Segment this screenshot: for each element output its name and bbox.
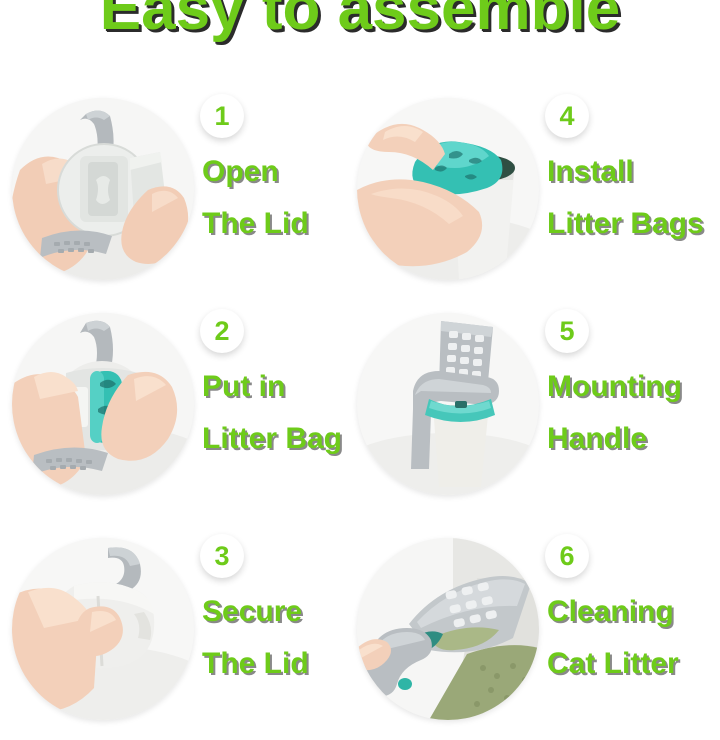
photo-open-the-lid: [12, 98, 194, 280]
put-in-litter-bag-illustration: [12, 313, 194, 495]
step-card-5: 5 Mounting Handle: [345, 303, 705, 515]
step-caption: Install Litter Bags: [547, 146, 720, 250]
step-number-badge: 1: [200, 94, 244, 138]
step-caption-line1: Install: [547, 146, 720, 198]
photo-put-in-litter-bag: [12, 313, 194, 495]
mounting-handle-illustration: [357, 313, 539, 495]
cleaning-cat-litter-illustration: [357, 538, 539, 720]
photo-install-litter-bags: [357, 98, 539, 280]
step-caption-line2: Cat Litter: [547, 638, 720, 690]
step-card-2: 2 Put in Litter Bag: [0, 303, 360, 515]
step-number-badge: 6: [545, 534, 589, 578]
step-caption: Mounting Handle: [547, 361, 720, 465]
step-card-3: 3 Secure The Lid: [0, 528, 360, 740]
step-number-badge: 3: [200, 534, 244, 578]
step-caption-line1: Cleaning: [547, 586, 720, 638]
photo-cleaning-cat-litter: [357, 538, 539, 720]
step-caption-line2: Handle: [547, 413, 720, 465]
photo-secure-the-lid: [12, 538, 194, 720]
step-caption: Cleaning Cat Litter: [547, 586, 720, 690]
page-title-banner: Easy to assemble: [0, 0, 720, 50]
step-caption-line2: Litter Bags: [547, 198, 720, 250]
step-number-badge: 2: [200, 309, 244, 353]
assembly-steps-grid: 1 Open The Lid: [0, 88, 720, 720]
step-card-4: 4 Install Litter Bags: [345, 88, 705, 300]
page-title: Easy to assemble: [0, 0, 720, 44]
step-number-badge: 5: [545, 309, 589, 353]
step-number-badge: 4: [545, 94, 589, 138]
open-the-lid-illustration: [12, 98, 194, 280]
step-card-1: 1 Open The Lid: [0, 88, 360, 300]
install-litter-bags-illustration: [357, 98, 539, 280]
step-caption-line1: Mounting: [547, 361, 720, 413]
photo-mounting-handle: [357, 313, 539, 495]
secure-the-lid-illustration: [12, 538, 194, 720]
step-card-6: 6 Cleaning Cat Litter: [345, 528, 705, 740]
